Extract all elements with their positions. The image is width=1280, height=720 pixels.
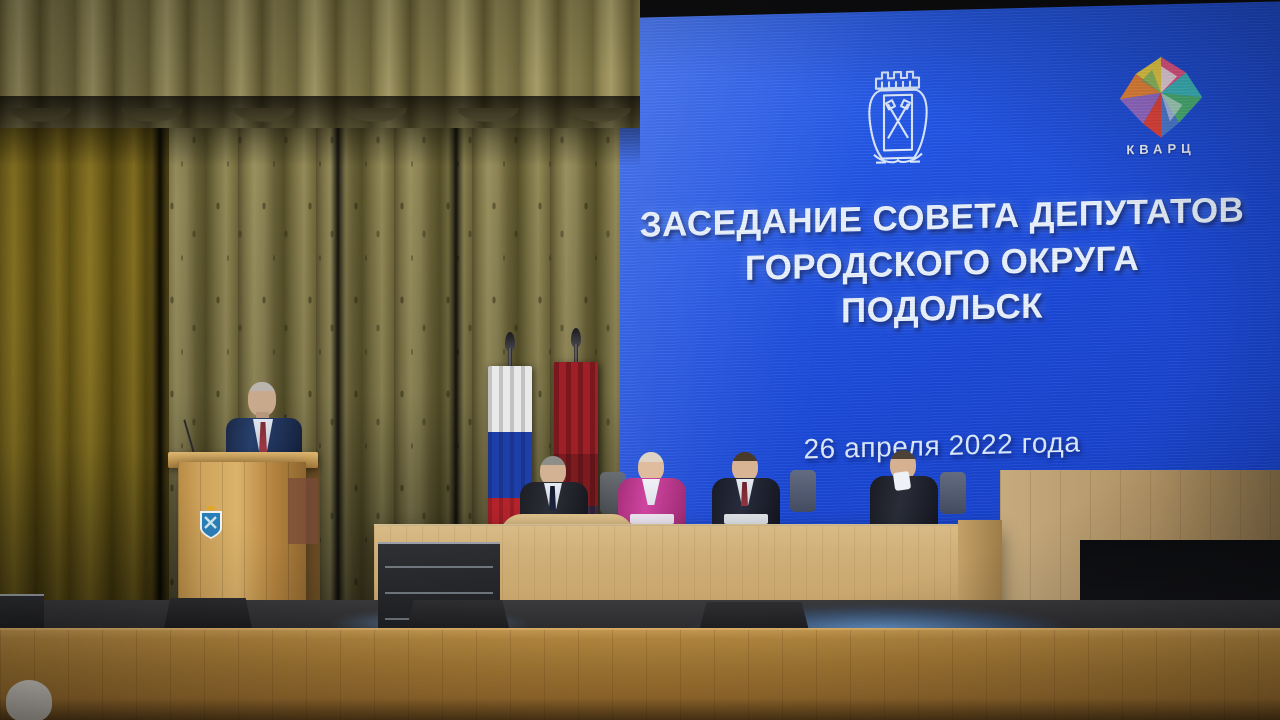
podolsk-coat-of-arms-icon (856, 61, 946, 173)
meeting-photo-scene: КВАРЦ ЗАСЕДАНИЕ СОВЕТА ДЕПУТАТОВ ГОРОДСК… (0, 0, 1280, 720)
presidium-member-4 (868, 450, 940, 524)
kvarc-logo: КВАРЦ (1106, 52, 1216, 170)
member-papers (724, 514, 768, 524)
presidium-member-2 (616, 452, 688, 526)
apron-shadow (0, 698, 1280, 720)
led-screen: КВАРЦ ЗАСЕДАНИЕ СОВЕТА ДЕПУТАТОВ ГОРОДСК… (600, 1, 1280, 538)
panel-bar (385, 566, 492, 568)
presidium-member-3 (710, 452, 782, 526)
chair-back-3 (940, 472, 966, 514)
kvarc-wordmark: КВАРЦ (1126, 140, 1195, 157)
slide-content: КВАРЦ ЗАСЕДАНИЕ СОВЕТА ДЕПУТАТОВ ГОРОДСК… (600, 1, 1280, 538)
podium-inset-panel (288, 478, 318, 544)
slide-title: ЗАСЕДАНИЕ СОВЕТА ДЕПУТАТОВ ГОРОДСКОГО ОК… (600, 186, 1280, 340)
member-papers (630, 514, 674, 524)
slide-date: 26 апреля 2022 года (600, 421, 1280, 470)
kvarc-crystal-icon (1115, 52, 1207, 140)
chair-back-2 (790, 470, 816, 512)
member-tissue (893, 471, 911, 491)
slide-logo-row: КВАРЦ (856, 49, 1216, 178)
podolsk-shield-emblem-icon (197, 504, 225, 540)
panel-bar (385, 592, 492, 594)
speaker-head (248, 382, 276, 416)
valance-shadow (0, 96, 640, 166)
audience-member-head (6, 680, 52, 720)
